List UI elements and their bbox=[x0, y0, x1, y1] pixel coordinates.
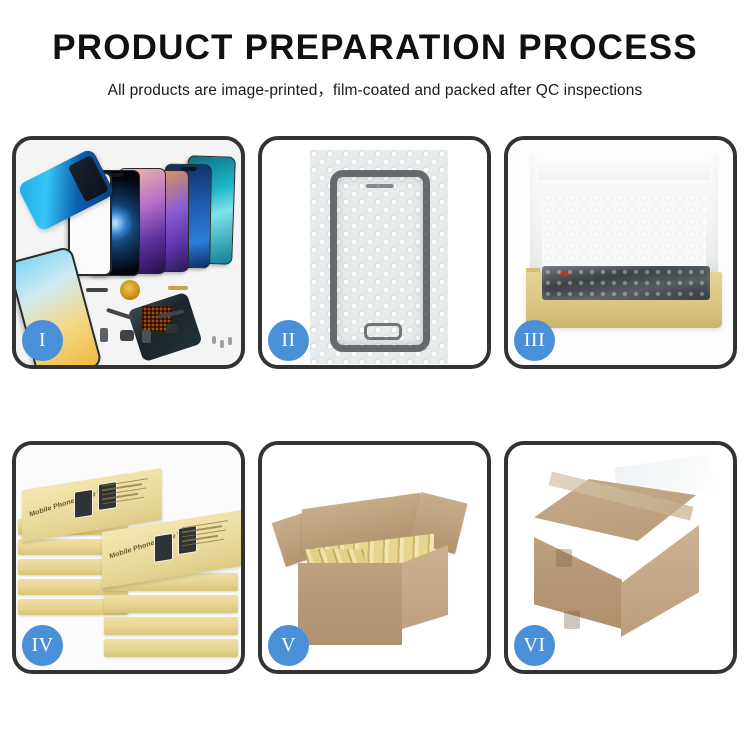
home-button-cutout bbox=[364, 323, 402, 340]
small-part-4 bbox=[166, 324, 177, 333]
screws-group bbox=[212, 336, 238, 354]
packed-screen bbox=[542, 266, 710, 300]
process-steps-grid: I II bbox=[12, 136, 739, 674]
flex-cable-1 bbox=[86, 288, 108, 292]
step-badge-3: III bbox=[514, 320, 555, 361]
box-phone-image-1 bbox=[74, 489, 93, 519]
vibration-coil bbox=[120, 280, 140, 300]
box-right-2 bbox=[104, 595, 238, 613]
page-title: PRODUCT PREPARATION PROCESS bbox=[0, 30, 750, 67]
step-panel-5: V bbox=[258, 441, 491, 674]
page-subtitle: All products are image-printed，film-coat… bbox=[0, 78, 750, 100]
foam-padding bbox=[542, 192, 706, 274]
small-part-2 bbox=[120, 330, 134, 341]
step-badge-2: II bbox=[268, 320, 309, 361]
step-panel-1: I bbox=[12, 136, 245, 369]
carton-handle-notch-2 bbox=[564, 611, 580, 629]
step-badge-5: V bbox=[268, 625, 309, 666]
step-panel-3: III bbox=[504, 136, 737, 369]
box-right-3 bbox=[104, 617, 238, 635]
carton-front-panel bbox=[298, 563, 402, 645]
header: PRODUCT PREPARATION PROCESS All products… bbox=[0, 30, 750, 100]
step-panel-6: VI bbox=[504, 441, 737, 674]
label-sticker bbox=[560, 272, 570, 276]
step-badge-6: VI bbox=[514, 625, 555, 666]
step-panel-4: Mobile Phone Spare Parts Mobile Phone Sp… bbox=[12, 441, 245, 674]
box-phone-image-3 bbox=[154, 533, 173, 563]
product-preparation-infographic: PRODUCT PREPARATION PROCESS All products… bbox=[0, 0, 750, 750]
flex-cable-2 bbox=[168, 286, 188, 290]
earpiece-slot bbox=[366, 184, 394, 188]
carton-handle-notch-1 bbox=[556, 549, 572, 567]
bubble-wrap-sheet bbox=[310, 150, 448, 364]
small-part-1 bbox=[100, 328, 108, 342]
step-badge-4: IV bbox=[22, 625, 63, 666]
wrapped-screen-outline bbox=[330, 170, 430, 352]
small-part-3 bbox=[142, 330, 151, 343]
box-right-4 bbox=[104, 639, 238, 657]
step-panel-2: II bbox=[258, 136, 491, 369]
step-badge-1: I bbox=[22, 320, 63, 361]
box-spec-lines-2 bbox=[182, 519, 234, 549]
